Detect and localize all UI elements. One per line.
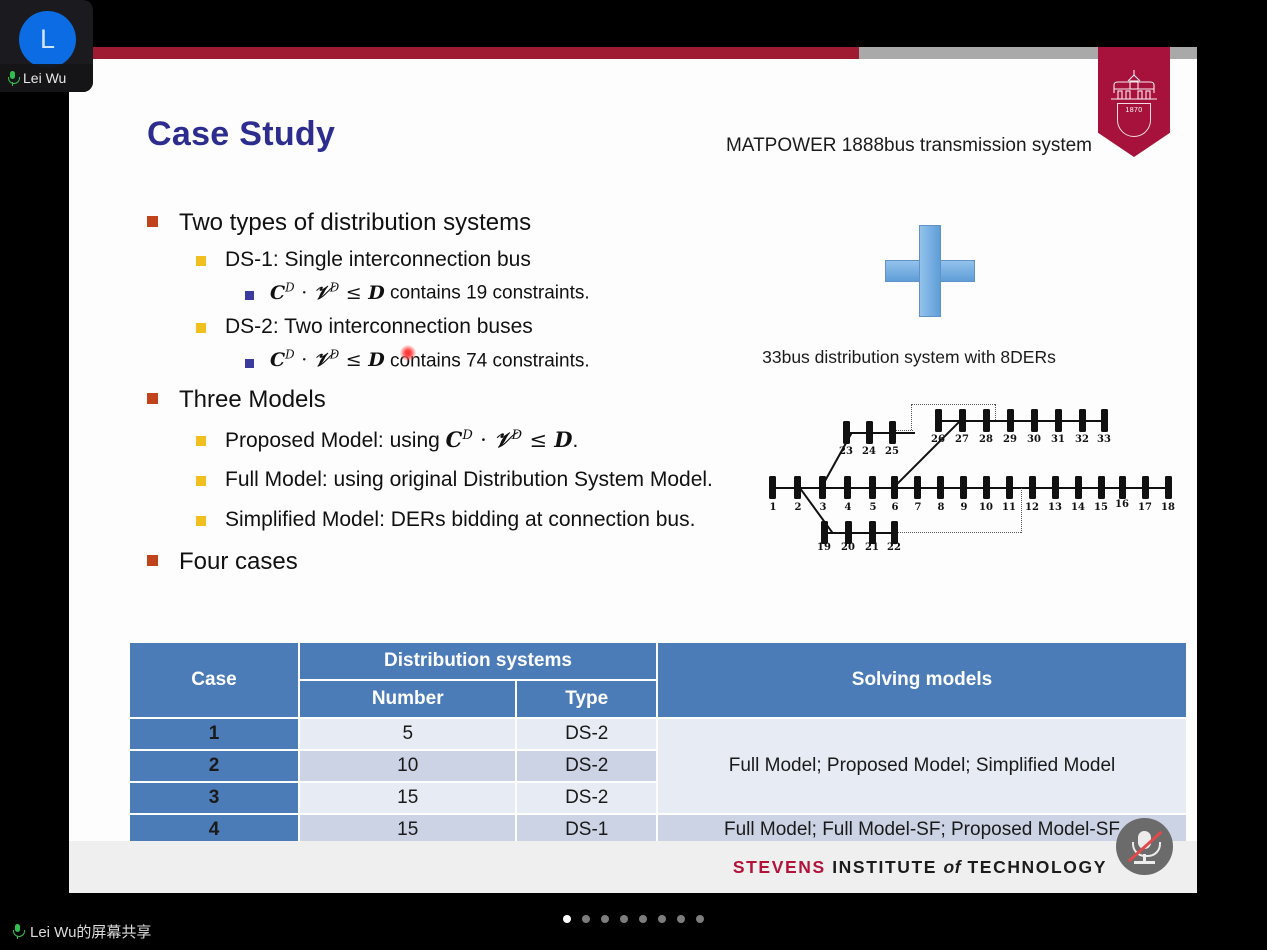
microphone-icon bbox=[7, 71, 18, 86]
bus-node bbox=[935, 409, 942, 432]
cell-case: 2 bbox=[130, 751, 298, 781]
bus-label: 18 bbox=[1160, 502, 1176, 513]
bus-node bbox=[1052, 476, 1059, 499]
bullet-text-tail: contains 19 constraints. bbox=[385, 283, 590, 304]
bus-node bbox=[960, 476, 967, 499]
bus-node bbox=[1165, 476, 1172, 499]
bullet-ds1-constraints: CD · 𝒱D ≤ D contains 19 constraints. bbox=[245, 280, 767, 305]
bus-node bbox=[891, 521, 898, 544]
tie-dash-12-v bbox=[1021, 488, 1022, 533]
page-dot[interactable] bbox=[677, 915, 685, 923]
bullet-marker-square bbox=[147, 216, 158, 227]
page-dot[interactable] bbox=[696, 915, 704, 923]
page-dot[interactable] bbox=[601, 915, 609, 923]
tie-dash-22-12-h bbox=[893, 532, 1021, 533]
microphone-icon bbox=[12, 924, 23, 939]
zoom-share-stage: 1870 Case Study Two types of distributio… bbox=[0, 0, 1267, 950]
case-table: Case Distribution systems Solving models… bbox=[128, 641, 1188, 847]
bus-label: 11 bbox=[1001, 502, 1017, 513]
distribution-system-caption: 33bus distribution system with 8DERs bbox=[699, 347, 1119, 368]
bus-label: 19 bbox=[816, 542, 832, 553]
header-case: Case bbox=[130, 643, 298, 717]
bus-label: 6 bbox=[887, 502, 903, 513]
bus-label: 13 bbox=[1047, 502, 1063, 513]
laser-pointer-dot bbox=[400, 345, 416, 361]
bullet-list: Two types of distribution systems DS-1: … bbox=[147, 207, 767, 577]
feeder-wire-main bbox=[769, 487, 1169, 489]
bus-node bbox=[866, 421, 873, 444]
bus-node bbox=[794, 476, 801, 499]
bus-label: 5 bbox=[865, 502, 881, 513]
share-status-label: Lei Wu的屏幕共享 bbox=[30, 921, 151, 942]
bullet-text: DS-1: Single interconnection bus bbox=[225, 246, 531, 274]
page-dot[interactable] bbox=[582, 915, 590, 923]
cell-case: 1 bbox=[130, 719, 298, 749]
bullet-marker-square bbox=[196, 476, 206, 486]
avatar-initial: L bbox=[40, 26, 55, 53]
avatar: L bbox=[19, 11, 76, 68]
bullet-marker-square bbox=[196, 323, 206, 333]
bus-node bbox=[844, 476, 851, 499]
bullet-simplified-model: Simplified Model: DERs bidding at connec… bbox=[196, 506, 767, 534]
bus-label: 9 bbox=[956, 502, 972, 513]
bus-label: 1 bbox=[765, 502, 781, 513]
bus-label: 32 bbox=[1074, 434, 1090, 445]
bus-label: 30 bbox=[1026, 434, 1042, 445]
brand-technology: TECHNOLOGY bbox=[968, 857, 1107, 877]
network-diagram: 1 2 3 4 5 6 7 8 9 10 11 12 13 14 15 16 1… bbox=[763, 392, 1183, 557]
bus-node bbox=[891, 476, 898, 499]
bullet-text: Three Models bbox=[179, 384, 326, 416]
header-number: Number bbox=[300, 681, 515, 717]
bus-node bbox=[937, 476, 944, 499]
bus-label: 14 bbox=[1070, 502, 1086, 513]
bus-label: 10 bbox=[978, 502, 994, 513]
bus-node bbox=[1031, 409, 1038, 432]
cell-type: DS-2 bbox=[517, 751, 656, 781]
bus-node bbox=[769, 476, 776, 499]
participant-name-bar: Lei Wu bbox=[0, 64, 93, 92]
plus-vertical-bar bbox=[919, 225, 941, 317]
bullet-text: Simplified Model: DERs bidding at connec… bbox=[225, 506, 695, 534]
bus-node bbox=[983, 476, 990, 499]
plus-symbol-icon bbox=[885, 225, 975, 317]
table-row: 1 5 DS-2 Full Model; Proposed Model; Sim… bbox=[130, 719, 1186, 749]
bullet-full-model: Full Model: using original Distribution … bbox=[196, 466, 767, 494]
bus-label: 28 bbox=[978, 434, 994, 445]
brand-institute: INSTITUTE bbox=[832, 857, 937, 877]
cell-solving-models-merged: Full Model; Proposed Model; Simplified M… bbox=[658, 719, 1186, 813]
muted-microphone-icon bbox=[1116, 818, 1173, 875]
cell-number: 5 bbox=[300, 719, 515, 749]
bus-node bbox=[983, 409, 990, 432]
slide-footer-brand: STEVENS INSTITUTE of TECHNOLOGY bbox=[69, 841, 1197, 893]
bus-node bbox=[959, 409, 966, 432]
bus-label: 22 bbox=[886, 542, 902, 553]
bus-label: 20 bbox=[840, 542, 856, 553]
bus-label: 27 bbox=[954, 434, 970, 445]
bus-node bbox=[845, 521, 852, 544]
screen-share-status: Lei Wu的屏幕共享 bbox=[12, 921, 151, 942]
bus-label: 15 bbox=[1093, 502, 1109, 513]
bus-label: 17 bbox=[1137, 502, 1153, 513]
brand-of: of bbox=[944, 857, 962, 877]
bus-node bbox=[843, 421, 850, 444]
bus-node bbox=[1101, 409, 1108, 432]
page-dot-active[interactable] bbox=[563, 915, 571, 923]
bus-label: 33 bbox=[1096, 434, 1112, 445]
bullet-text: DS-2: Two interconnection buses bbox=[225, 313, 533, 341]
bus-label: 24 bbox=[861, 446, 877, 457]
page-indicator-dots[interactable] bbox=[0, 915, 1267, 923]
tie-dash-25-26-h1 bbox=[911, 404, 995, 405]
bus-label: 23 bbox=[838, 446, 854, 457]
cell-type: DS-2 bbox=[517, 783, 656, 813]
header-distribution-systems: Distribution systems bbox=[300, 643, 656, 679]
bus-label: 25 bbox=[884, 446, 900, 457]
bullet-ds2-constraints: CD · 𝒱D ≤ D contains 74 constraints. bbox=[245, 348, 767, 373]
stevens-wordmark: STEVENS INSTITUTE of TECHNOLOGY bbox=[733, 857, 1107, 878]
bus-label: 4 bbox=[840, 502, 856, 513]
bus-node bbox=[819, 476, 826, 499]
bullet-marker-square bbox=[147, 555, 158, 566]
participant-video-tile[interactable]: L Lei Wu bbox=[0, 0, 93, 92]
bullet-marker-square bbox=[245, 291, 254, 300]
bullet-text: Four cases bbox=[179, 546, 298, 578]
cell-number: 15 bbox=[300, 783, 515, 813]
bullet-text: CD · 𝒱D ≤ D contains 74 constraints. bbox=[270, 348, 590, 373]
bus-label: 8 bbox=[933, 502, 949, 513]
tie-dash-25-v bbox=[911, 404, 912, 430]
math-expression: CD · 𝒱D ≤ D bbox=[270, 282, 385, 304]
bullet-marker-square bbox=[196, 516, 206, 526]
bus-label: 26 bbox=[930, 434, 946, 445]
page-dot[interactable] bbox=[620, 915, 628, 923]
bus-node bbox=[1075, 476, 1082, 499]
bullet-marker-square bbox=[245, 359, 254, 368]
shared-slide: 1870 Case Study Two types of distributio… bbox=[69, 47, 1197, 893]
bullet-text: Proposed Model: using CD · 𝒱D ≤ D. bbox=[225, 426, 578, 455]
bus-node bbox=[869, 476, 876, 499]
bus-node bbox=[1079, 409, 1086, 432]
tie-dash-25-h2 bbox=[893, 430, 913, 431]
bullet-text-tail: . bbox=[573, 429, 579, 452]
bullet-text: Full Model: using original Distribution … bbox=[225, 466, 713, 494]
tie-dash-29-v bbox=[995, 404, 996, 420]
bus-label: 16 bbox=[1114, 499, 1130, 510]
bus-label: 21 bbox=[864, 542, 880, 553]
page-dot[interactable] bbox=[658, 915, 666, 923]
bullet-three-models: Three Models bbox=[147, 384, 767, 416]
bus-node bbox=[869, 521, 876, 544]
crest-shield: 1870 bbox=[1117, 103, 1151, 137]
table-header-row: Case Distribution systems Solving models bbox=[130, 643, 1186, 679]
bullet-two-types: Two types of distribution systems bbox=[147, 207, 767, 239]
cell-number: 10 bbox=[300, 751, 515, 781]
bullet-marker-square bbox=[196, 436, 206, 446]
bus-node bbox=[889, 421, 896, 444]
cell-case: 3 bbox=[130, 783, 298, 813]
bus-label: 7 bbox=[910, 502, 926, 513]
bullet-ds1: DS-1: Single interconnection bus bbox=[196, 246, 767, 274]
bus-node bbox=[1007, 409, 1014, 432]
page-title: Case Study bbox=[147, 115, 335, 154]
bullet-text: CD · 𝒱D ≤ D contains 19 constraints. bbox=[270, 280, 590, 305]
math-expression: CD · 𝒱D ≤ D bbox=[270, 349, 385, 371]
bullet-ds2: DS-2: Two interconnection buses bbox=[196, 313, 767, 341]
bus-label: 3 bbox=[815, 502, 831, 513]
bullet-marker-square bbox=[196, 256, 206, 266]
bullet-four-cases: Four cases bbox=[147, 546, 767, 578]
bus-label: 2 bbox=[790, 502, 806, 513]
header-solving-models: Solving models bbox=[658, 643, 1186, 717]
top-bar-red-segment bbox=[69, 47, 859, 59]
bus-node bbox=[1055, 409, 1062, 432]
crest-year: 1870 bbox=[1125, 107, 1142, 114]
math-expression: CD · 𝒱D ≤ D bbox=[446, 427, 573, 452]
bus-label: 12 bbox=[1024, 502, 1040, 513]
bullet-proposed-model: Proposed Model: using CD · 𝒱D ≤ D. bbox=[196, 426, 767, 455]
bullet-marker-square bbox=[147, 393, 158, 404]
bus-node bbox=[1142, 476, 1149, 499]
transmission-system-caption: MATPOWER 1888bus transmission system bbox=[699, 135, 1119, 157]
slide-top-bar bbox=[69, 47, 1197, 59]
brand-stevens: STEVENS bbox=[733, 857, 826, 877]
bus-node bbox=[1006, 476, 1013, 499]
participant-name: Lei Wu bbox=[23, 70, 66, 86]
bus-node bbox=[1119, 476, 1126, 499]
bus-label: 29 bbox=[1002, 434, 1018, 445]
feeder-wire-upper-a bbox=[843, 432, 915, 434]
cell-type: DS-2 bbox=[517, 719, 656, 749]
bullet-text: Two types of distribution systems bbox=[179, 207, 531, 239]
bullet-text-prefix: Proposed Model: using bbox=[225, 429, 446, 452]
page-dot[interactable] bbox=[639, 915, 647, 923]
header-type: Type bbox=[517, 681, 656, 717]
bus-node bbox=[1029, 476, 1036, 499]
bus-node bbox=[1098, 476, 1105, 499]
bus-node bbox=[914, 476, 921, 499]
bus-label: 31 bbox=[1050, 434, 1066, 445]
bus-node bbox=[821, 521, 828, 544]
